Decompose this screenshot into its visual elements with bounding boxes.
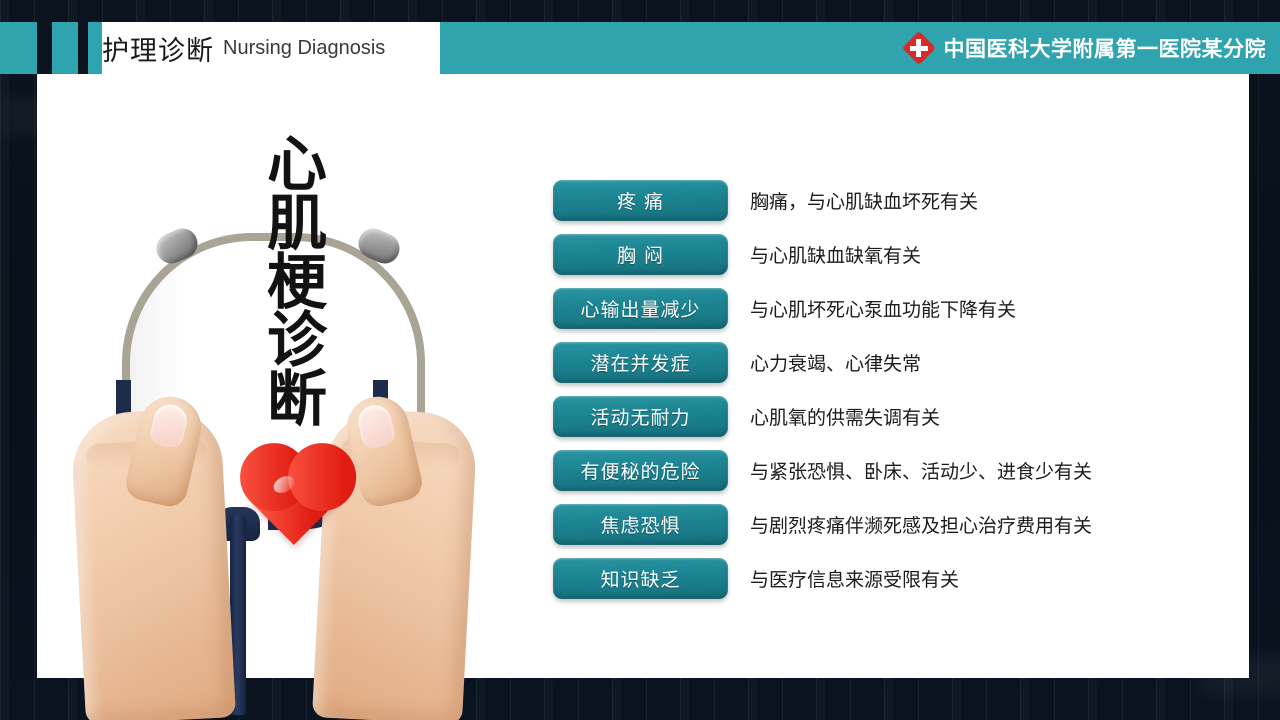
diagnosis-row: 焦虑恐惧 与剧烈疼痛伴濒死感及担心治疗费用有关 <box>553 504 1173 558</box>
diagnosis-description: 与剧烈疼痛伴濒死感及担心治疗费用有关 <box>750 504 1092 545</box>
diagnosis-pill-chest-tightness[interactable]: 胸 闷 <box>553 234 728 275</box>
diagnosis-description: 与医疗信息来源受限有关 <box>750 558 959 599</box>
page-title-cn: 护理诊断 <box>102 29 214 68</box>
diagnosis-pill-knowledge-deficit[interactable]: 知识缺乏 <box>553 558 728 599</box>
diagnosis-pill-anxiety-fear[interactable]: 焦虑恐惧 <box>553 504 728 545</box>
vertical-heading-char: 梗 <box>267 254 327 313</box>
hospital-name: 中国医科大学附属第一医院某分院 <box>944 33 1267 63</box>
diagnosis-pill-label: 焦虑恐惧 <box>600 511 680 538</box>
diagnosis-pill-label: 胸 闷 <box>617 241 664 268</box>
diagnosis-pill-pain[interactable]: 疼 痛 <box>553 180 728 221</box>
diagnosis-pill-label: 有便秘的危险 <box>580 457 700 484</box>
diagnosis-pill-activity-intolerance[interactable]: 活动无耐力 <box>553 396 728 437</box>
vertical-heading-char: 断 <box>267 371 327 430</box>
diagnosis-row: 心输出量减少 与心肌坏死心泵血功能下降有关 <box>553 288 1173 342</box>
diagnosis-description: 心肌氧的供需失调有关 <box>750 396 940 437</box>
diagnosis-pill-label: 活动无耐力 <box>590 403 690 430</box>
diagnosis-pill-label: 心输出量减少 <box>580 295 700 322</box>
diagnosis-row: 有便秘的危险 与紧张恐惧、卧床、活动少、进食少有关 <box>553 450 1173 504</box>
vertical-heading-char: 心 <box>267 136 327 195</box>
vertical-heading-char: 肌 <box>267 195 327 254</box>
diagnosis-row: 知识缺乏 与医疗信息来源受限有关 <box>553 558 1173 612</box>
diagnosis-description: 与紧张恐惧、卧床、活动少、进食少有关 <box>750 450 1092 491</box>
diagnosis-pill-potential-complications[interactable]: 潜在并发症 <box>553 342 728 383</box>
diagnosis-pill-label: 疼 痛 <box>617 187 664 214</box>
header-accent-bar-3 <box>88 22 102 74</box>
red-cross-diamond-icon <box>904 33 934 63</box>
diagnosis-row: 活动无耐力 心肌氧的供需失调有关 <box>553 396 1173 450</box>
diagnosis-pill-constipation-risk[interactable]: 有便秘的危险 <box>553 450 728 491</box>
vertical-heading-char: 诊 <box>267 312 327 371</box>
header-gap-2 <box>78 22 88 74</box>
diagnosis-description: 与心肌坏死心泵血功能下降有关 <box>750 288 1016 329</box>
diagnosis-row: 潜在并发症 心力衰竭、心律失常 <box>553 342 1173 396</box>
diagnosis-pill-label: 知识缺乏 <box>600 565 680 592</box>
diagnosis-list: 疼 痛 胸痛，与心肌缺血坏死有关 胸 闷 与心肌缺血缺氧有关 心输出量减少 与心… <box>553 180 1173 612</box>
slide-root: 护理诊断 Nursing Diagnosis 中国医科大学附属第一医院某分院 <box>0 0 1280 720</box>
vertical-heading: 心 肌 梗 诊 断 <box>258 136 336 430</box>
header-accent-bar-1 <box>0 22 37 74</box>
diagnosis-pill-cardiac-output[interactable]: 心输出量减少 <box>553 288 728 329</box>
diagnosis-description: 胸痛，与心肌缺血坏死有关 <box>750 180 978 221</box>
hand-left <box>70 407 236 720</box>
fingernail-right <box>355 402 397 450</box>
diagnosis-description: 心力衰竭、心律失常 <box>750 342 921 383</box>
diagnosis-row: 疼 痛 胸痛，与心肌缺血坏死有关 <box>553 180 1173 234</box>
page-title-en: Nursing Diagnosis <box>223 37 385 60</box>
hospital-brand: 中国医科大学附属第一医院某分院 <box>904 22 1267 74</box>
diagnosis-row: 胸 闷 与心肌缺血缺氧有关 <box>553 234 1173 288</box>
diagnosis-pill-label: 潜在并发症 <box>590 349 690 376</box>
header-accent-bar-2 <box>52 22 78 74</box>
header-gap-1 <box>37 22 52 74</box>
diagnosis-description: 与心肌缺血缺氧有关 <box>750 234 921 275</box>
fingernail-left <box>148 401 190 449</box>
page-title: 护理诊断 Nursing Diagnosis <box>102 22 440 74</box>
